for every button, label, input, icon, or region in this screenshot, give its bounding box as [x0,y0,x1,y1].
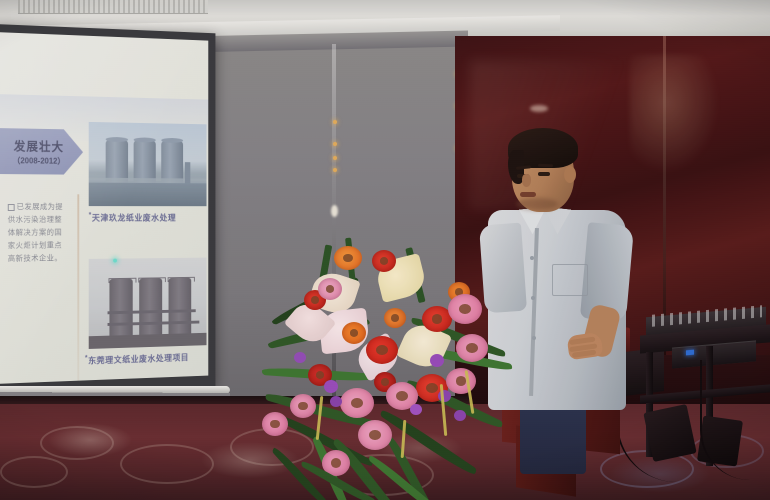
red-gerbera [372,250,396,272]
shirt-button [530,256,534,260]
carpet-pattern [120,444,214,484]
pink-gerbera [318,278,342,300]
amplifier-led [686,350,694,356]
photo-ground [89,333,207,349]
silo-railing [168,277,195,282]
carpet-pattern [40,426,114,460]
slide-divider [77,194,79,380]
amber-light-dot [333,120,337,124]
orange-bloom [384,308,406,328]
pink-gerbera [290,394,316,418]
slide-body-copy: 已发展成为提供水污染治理整体解决方案的国家火炬计划重点高新技术企业。 [8,202,63,263]
amber-light-dot [333,156,337,160]
pink-gerbera [448,294,482,324]
eye [538,172,550,176]
shirt-button [531,296,535,300]
slide-photo-2 [89,258,207,349]
storage-tank [161,141,183,183]
floral-arrangement [262,244,512,496]
projection-screen: 发展壮大 （2008-2012） 已发展成为提供水污染治理整体解决方案的国家火炬… [0,32,208,384]
nose [522,174,531,187]
red-gerbera [366,336,398,364]
reactor-silo [139,278,162,334]
purple-orchid [410,404,422,415]
silo-railing [108,278,136,283]
storage-tank [134,140,156,183]
caption-text: 东莞理文纸业废水处理项目 [88,352,189,365]
photo-water [89,181,207,206]
shirt-pocket [552,264,588,296]
slide-photo-2-caption: *东莞理文纸业废水处理项目 [85,351,189,366]
reactor-silo [109,279,132,336]
ceiling-vent [18,0,208,14]
pink-gerbera [446,368,476,394]
bullet-square-icon [8,204,15,211]
slide-banner-years: （2008-2012） [13,155,66,166]
purple-orchid [294,352,306,363]
carpet-pattern [0,456,68,488]
purple-orchid [330,396,342,407]
storage-tank [106,140,128,183]
reactor-silo [169,278,192,334]
slide: 发展壮大 （2008-2012） 已发展成为提供水污染治理整体解决方案的国家火炬… [0,32,208,384]
pink-gerbera [340,388,374,418]
shirt-button [532,336,536,340]
pink-gerbera [358,420,392,450]
presentation-photo: 发展壮大 （2008-2012） 已发展成为提供水污染治理整体解决方案的国家火炬… [0,0,770,500]
laser-pointer-dot [113,259,117,263]
ear [564,166,576,183]
slide-banner-title: 发展壮大 [14,137,64,155]
slide-photo-1 [89,122,207,206]
purple-orchid [324,380,338,393]
chin-shadow [516,198,558,210]
purple-orchid [454,410,466,421]
wall-specular-highlight [331,205,338,217]
mouth [520,192,536,197]
orange-bloom [334,246,362,270]
wood-glint [530,105,548,112]
silo-railing [138,277,166,282]
slide-body-text: 已发展成为提供水污染治理整体解决方案的国家火炬计划重点高新技术企业。 [8,200,68,265]
amber-light-dot [333,142,337,146]
photo-chimney [185,162,190,183]
slide-photo-1-caption: *天津玖龙纸业废水处理 [89,212,176,224]
projection-screen-frame: 发展壮大 （2008-2012） 已发展成为提供水污染治理整体解决方案的国家火炬… [0,24,215,396]
eyebrow [538,164,553,168]
pink-gerbera [456,334,488,362]
orange-bloom [342,322,366,344]
caption-text: 天津玖龙纸业废水处理 [92,213,176,223]
purple-orchid [430,354,444,367]
amber-light-dot [333,168,337,172]
pink-gerbera [262,412,288,436]
